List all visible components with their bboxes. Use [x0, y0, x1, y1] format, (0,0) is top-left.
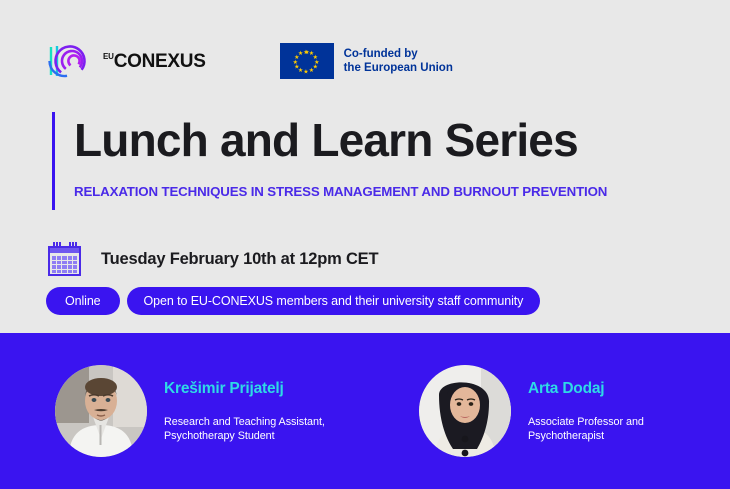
eu-funding-text: Co-funded by the European Union [344, 47, 453, 75]
event-datetime-row: Tuesday February 10th at 12pm CET [48, 240, 378, 278]
speaker-role: Associate Professor and Psychotherapist [528, 415, 723, 443]
page-subtitle: RELAXATION TECHNIQUES IN STRESS MANAGEME… [74, 183, 694, 200]
eu-funding-line2: the European Union [344, 61, 453, 75]
speaker-role-line2: Psychotherapy Student [164, 429, 359, 443]
speaker-photo-kresimir [55, 365, 147, 457]
svg-text:★: ★ [308, 67, 313, 74]
speaker-role-line1: Research and Teaching Assistant, [164, 415, 359, 429]
speakers-list: Krešimir Prijatelj Research and Teaching… [0, 333, 730, 489]
event-badges: Online Open to EU-CONEXUS members and th… [46, 287, 540, 315]
logo-row: EU CONEXUS ★ ★ ★ ★ [48, 38, 453, 84]
eu-funding-logo: ★ ★ ★ ★ ★ ★ ★ ★ ★ ★ ★ ★ [280, 43, 453, 79]
conexus-wordmark: EU CONEXUS [103, 52, 206, 71]
badge-audience: Open to EU-CONEXUS members and their uni… [127, 287, 541, 315]
eu-flag-icon: ★ ★ ★ ★ ★ ★ ★ ★ ★ ★ ★ ★ [280, 43, 334, 79]
poster-speakers-section: Krešimir Prijatelj Research and Teaching… [0, 333, 730, 489]
conexus-eu-prefix: EU [103, 53, 114, 61]
speaker-role: Research and Teaching Assistant, Psychot… [164, 415, 359, 443]
badge-online: Online [46, 287, 120, 315]
conexus-name-text: CONEXUS [114, 52, 206, 71]
speaker-card: Arta Dodaj Associate Professor and Psych… [365, 333, 730, 489]
speaker-info: Krešimir Prijatelj Research and Teaching… [164, 379, 359, 443]
conexus-arcs-icon [48, 41, 94, 81]
speaker-role-line2: Psychotherapist [528, 429, 723, 443]
speaker-card: Krešimir Prijatelj Research and Teaching… [0, 333, 365, 489]
speaker-name: Krešimir Prijatelj [164, 379, 359, 398]
eu-conexus-logo: EU CONEXUS [48, 38, 206, 84]
svg-text:★: ★ [297, 50, 302, 57]
event-poster: EU CONEXUS ★ ★ ★ ★ [0, 0, 730, 489]
calendar-icon [48, 240, 85, 278]
speaker-name: Arta Dodaj [528, 379, 723, 398]
eu-funding-line1: Co-funded by [344, 47, 453, 61]
title-block: Lunch and Learn Series RELAXATION TECHNI… [74, 112, 694, 200]
poster-top-section: EU CONEXUS ★ ★ ★ ★ [0, 0, 730, 333]
speaker-info: Arta Dodaj Associate Professor and Psych… [528, 379, 723, 443]
page-title: Lunch and Learn Series [74, 112, 694, 168]
speaker-role-line1: Associate Professor and [528, 415, 723, 429]
event-datetime-text: Tuesday February 10th at 12pm CET [101, 250, 378, 269]
svg-text:★: ★ [303, 68, 308, 75]
title-accent-bar [52, 112, 55, 210]
speaker-photo-arta [419, 365, 511, 457]
